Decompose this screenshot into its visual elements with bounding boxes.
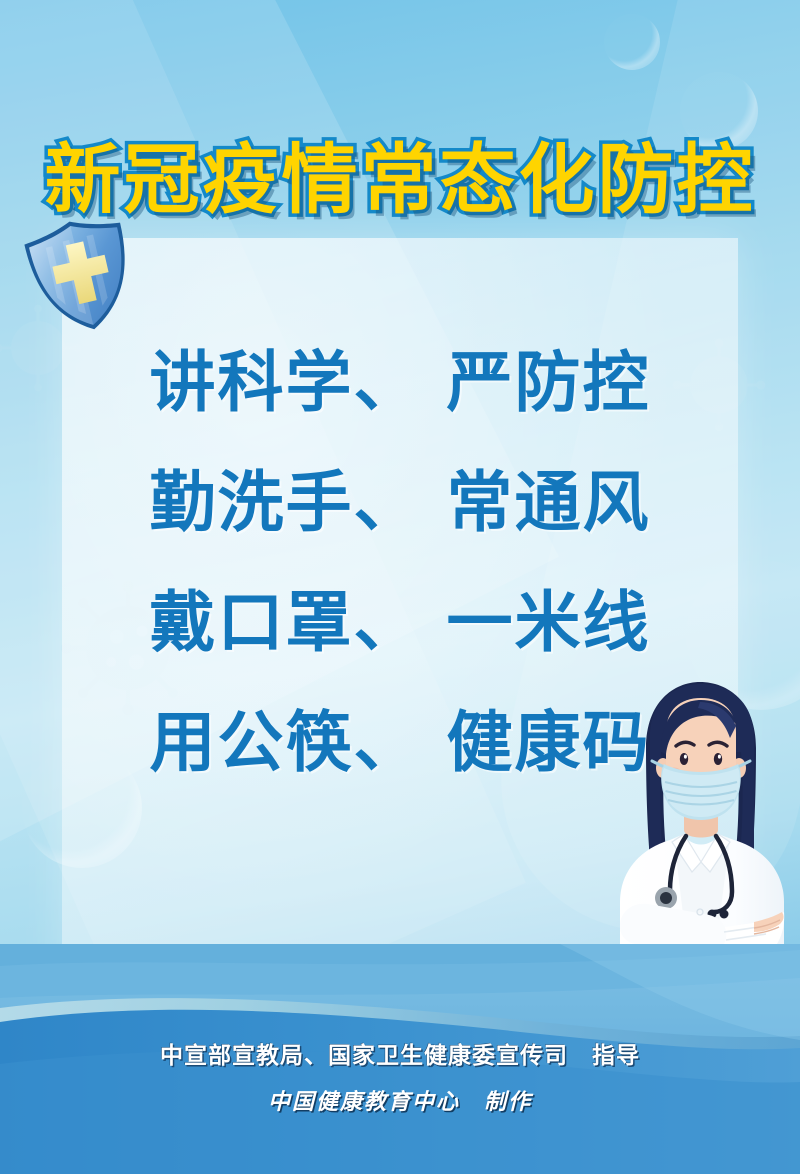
slogan-line: 讲科学、 严防控 (62, 350, 738, 416)
footer: 中宣部宣教局、国家卫生健康委宣传司 指导 中国健康教育中心 制作 (0, 1036, 800, 1116)
bubble-decoration (604, 14, 660, 70)
poster-canvas: 新冠疫情常态化防控 讲科学、 严防控 勤洗手、 常通风 (0, 0, 800, 1174)
slogan-line: 戴口罩、 一米线 (62, 590, 738, 656)
footer-guidance-line: 中宣部宣教局、国家卫生健康委宣传司 指导 (0, 1036, 800, 1070)
slogan-line: 勤洗手、 常通风 (62, 470, 738, 536)
footer-producer-line: 中国健康教育中心 制作 (0, 1084, 800, 1116)
